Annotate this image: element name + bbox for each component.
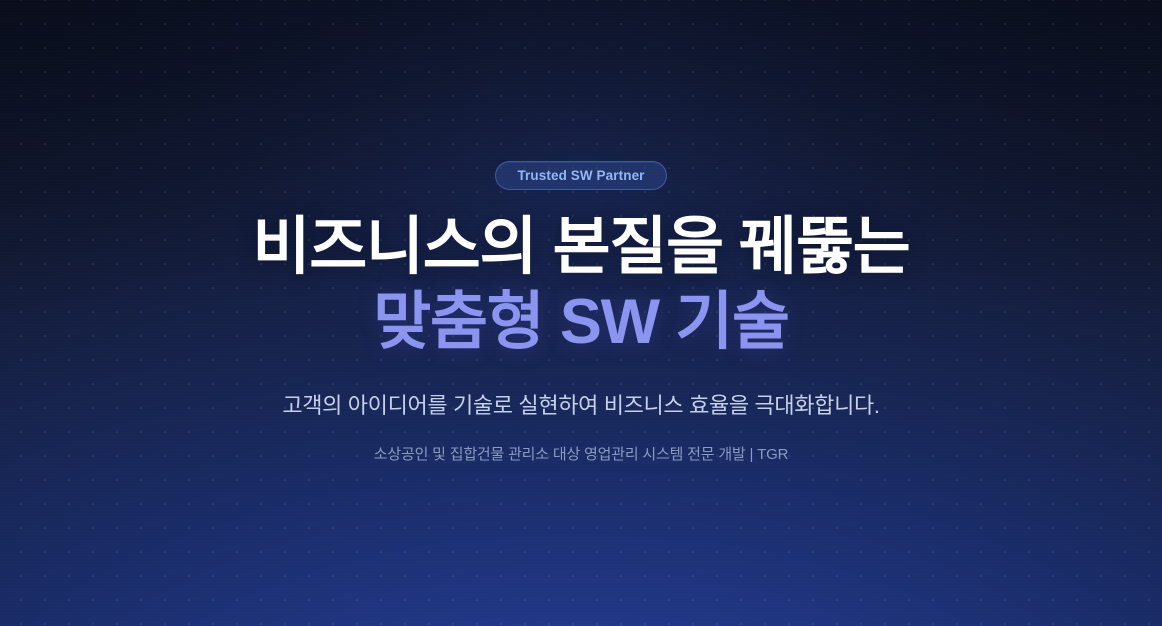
hero-section: Trusted SW Partner 비즈니스의 본질을 꿰뚫는 맞춤형 SW …: [0, 0, 1162, 626]
hero-tagline: 소상공인 및 집합건물 관리소 대상 영업관리 시스템 전문 개발 | TGR: [374, 444, 788, 467]
trusted-partner-badge-label: Trusted SW Partner: [517, 168, 644, 183]
page-title: 비즈니스의 본질을 꿰뚫는 맞춤형 SW 기술: [253, 190, 910, 359]
headline-line-accent: 맞춤형 SW 기술: [253, 286, 910, 359]
hero-content: Trusted SW Partner 비즈니스의 본질을 꿰뚫는 맞춤형 SW …: [0, 0, 1162, 626]
hero-subtitle: 고객의 아이디어를 기술로 실현하여 비즈니스 효율을 극대화합니다.: [282, 389, 879, 422]
headline-line-primary: 비즈니스의 본질을 꿰뚫는: [253, 211, 910, 284]
trusted-partner-badge: Trusted SW Partner: [495, 161, 666, 190]
